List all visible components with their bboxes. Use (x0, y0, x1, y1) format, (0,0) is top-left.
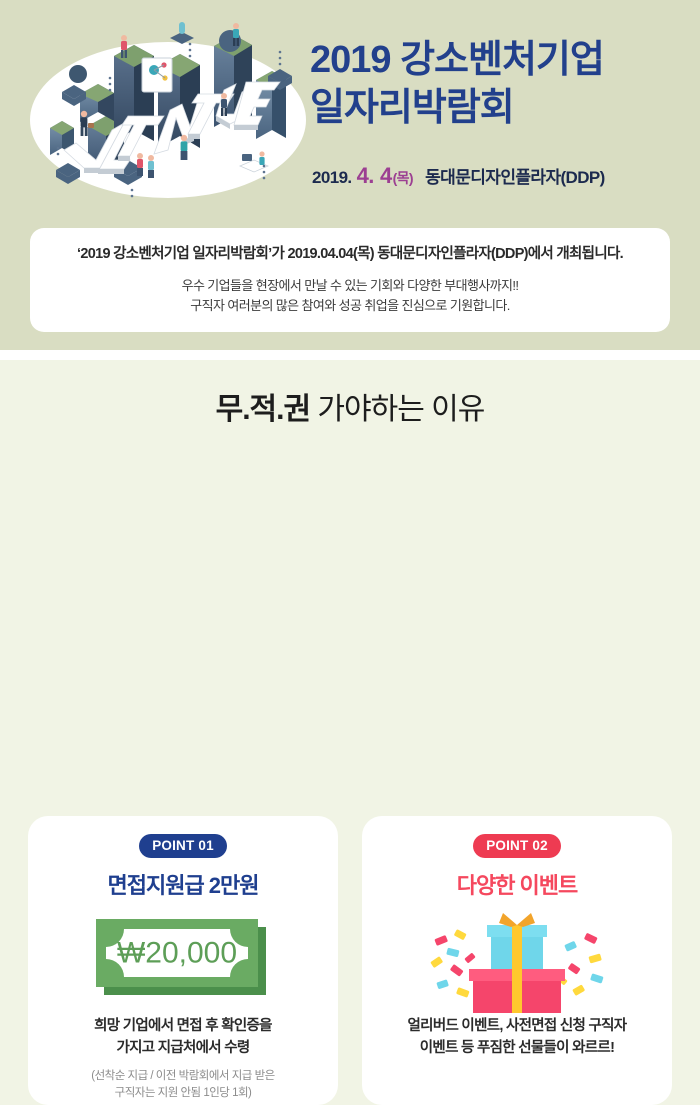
section-title-light: 가야하는 이유 (310, 393, 484, 426)
point-01-body-line-1: 희망 기업에서 면접 후 확인증을 (28, 1016, 338, 1038)
event-month: 4. (357, 163, 374, 188)
point-card-2: POINT 02 다양한 이벤트 (362, 816, 672, 1105)
reasons-section: 무.적.권 가야하는 이유 POINT 01 면접지원급 2만원 ₩20,000 (0, 360, 700, 760)
description-sub-line-2: 구직자 여러분의 많은 참여와 성공 취업을 진심으로 기원합니다. (30, 296, 670, 316)
point-01-badge: POINT 01 (139, 834, 227, 858)
event-day: 4 (380, 163, 392, 188)
section-title: 무.적.권 가야하는 이유 (0, 360, 700, 428)
banknote-amount: ₩20,000 (117, 937, 237, 970)
gift-boxes-icon (417, 903, 617, 1013)
section-title-strong: 무.적.권 (216, 393, 310, 426)
point-01-note-line-1: (선착순 지급 / 이전 박람회에서 지급 받은 (28, 1068, 338, 1085)
title-line-1: 2019 강소벤처기업 (310, 36, 690, 84)
point-01-title: 면접지원급 2만원 (28, 868, 338, 900)
point-01-note-line-2: 구직자는 지원 안됨 1인당 1회) (28, 1085, 338, 1102)
point-02-badge: POINT 02 (473, 834, 561, 858)
point-02-body-line-1: 얼리버드 이벤트, 사전면접 신청 구직자 (362, 1016, 672, 1038)
page-title: 2019 강소벤처기업 일자리박람회 (310, 36, 690, 133)
event-weekday: (목) (393, 170, 413, 186)
event-venue: 동대문디자인플라자(DDP) (425, 168, 605, 187)
description-subtext: 우수 기업들을 현장에서 만날 수 있는 기회와 다양한 부대행사까지!! 구직… (30, 276, 670, 316)
point-01-body-line-2: 가지고 지급처에서 수령 (28, 1038, 338, 1060)
point-02-body-line-2: 이벤트 등 푸짐한 선물들이 와르르! (362, 1038, 672, 1060)
title-line-2: 일자리박람회 (310, 84, 690, 132)
point-02-art (362, 900, 672, 1016)
point-01-art: ₩20,000 (28, 900, 338, 1016)
point-01-body: 희망 기업에서 면접 후 확인증을 가지고 지급처에서 수령 (28, 1016, 338, 1060)
point-card-1: POINT 01 면접지원급 2만원 ₩20,000 희망 기업에서 면접 후 … (28, 816, 338, 1105)
event-date-venue: 2019. 4. 4(목) 동대문디자인플라자(DDP) (312, 163, 605, 189)
venture-city-illustration (18, 8, 318, 213)
description-headline: ‘2019 강소벤처기업 일자리박람회’가 2019.04.04(목) 동대문디… (30, 242, 670, 263)
hero-section: 2019 강소벤처기업 일자리박람회 2019. 4. 4(목) 동대문디자인플… (0, 0, 700, 350)
section-divider (0, 350, 700, 360)
description-box: ‘2019 강소벤처기업 일자리박람회’가 2019.04.04(목) 동대문디… (30, 228, 670, 332)
point-02-body: 얼리버드 이벤트, 사전면접 신청 구직자 이벤트 등 푸짐한 선물들이 와르르… (362, 1016, 672, 1060)
banknote-icon: ₩20,000 (90, 913, 276, 1003)
point-01-note: (선착순 지급 / 이전 박람회에서 지급 받은 구직자는 지원 안됨 1인당 … (28, 1068, 338, 1103)
description-sub-line-1: 우수 기업들을 현장에서 만날 수 있는 기회와 다양한 부대행사까지!! (30, 276, 670, 296)
event-year: 2019. (312, 168, 352, 187)
point-02-title: 다양한 이벤트 (362, 868, 672, 900)
